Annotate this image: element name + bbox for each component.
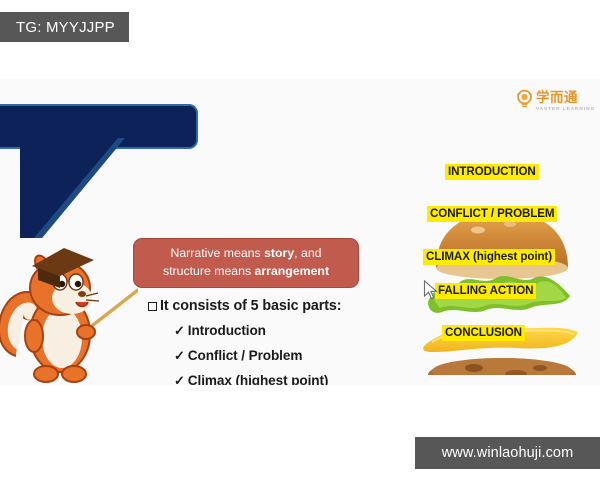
list-item-label: Introduction bbox=[188, 323, 266, 338]
logo-name-en: VASTER LEARNING bbox=[536, 107, 595, 112]
logo-name-cn: 学而通 bbox=[536, 92, 595, 106]
burger-label-conclusion: CONCLUSION bbox=[442, 325, 525, 341]
burger-bottom-bun bbox=[420, 383, 585, 385]
vaster-learning-logo: 学而通 VASTER LEARNING bbox=[516, 87, 596, 117]
list-item: ✓ Introduction bbox=[174, 323, 378, 339]
narrative-definition-callout: Narrative means story, and structure mea… bbox=[133, 238, 359, 288]
lightbulb-icon bbox=[516, 89, 533, 116]
checkmark-icon: ✓ bbox=[174, 373, 185, 385]
logo-wordmark: 学而通 VASTER LEARNING bbox=[536, 92, 595, 112]
list-item: ✓ Climax (highest point) bbox=[174, 373, 378, 385]
callout-line-2: structure means arrangement bbox=[163, 263, 329, 281]
burger-label-introduction: INTRODUCTION bbox=[445, 164, 539, 180]
burger-label-falling: FALLING ACTION bbox=[435, 283, 536, 299]
website-watermark-badge: www.winlaohuji.com bbox=[415, 437, 600, 469]
telegram-handle-badge: TG: MYYJJPP bbox=[0, 12, 129, 42]
square-bullet-icon bbox=[148, 302, 157, 311]
telegram-handle-text: TG: MYYJJPP bbox=[16, 19, 115, 36]
list-heading-label: It consists of 5 basic parts: bbox=[160, 298, 341, 314]
list-item: ✓ Conflict / Problem bbox=[174, 348, 378, 364]
burger-label-climax: CLIMAX (highest point) bbox=[423, 249, 555, 265]
basic-parts-list: It consists of 5 basic parts: ✓ Introduc… bbox=[148, 298, 378, 385]
screenshot-root: TG: MYYJJPP bbox=[0, 0, 600, 480]
squirrel-teacher-icon bbox=[0, 208, 138, 385]
burger-label-conflict: CONFLICT / PROBLEM bbox=[427, 206, 557, 222]
checkmark-icon: ✓ bbox=[174, 323, 185, 339]
list-item-label: Climax (highest point) bbox=[188, 373, 329, 385]
website-watermark-text: www.winlaohuji.com bbox=[442, 445, 574, 461]
checkmark-icon: ✓ bbox=[174, 348, 185, 364]
list-item-label: Conflict / Problem bbox=[188, 348, 303, 363]
callout-line-1: Narrative means story, and bbox=[170, 245, 321, 263]
list-heading: It consists of 5 basic parts: bbox=[148, 298, 378, 314]
